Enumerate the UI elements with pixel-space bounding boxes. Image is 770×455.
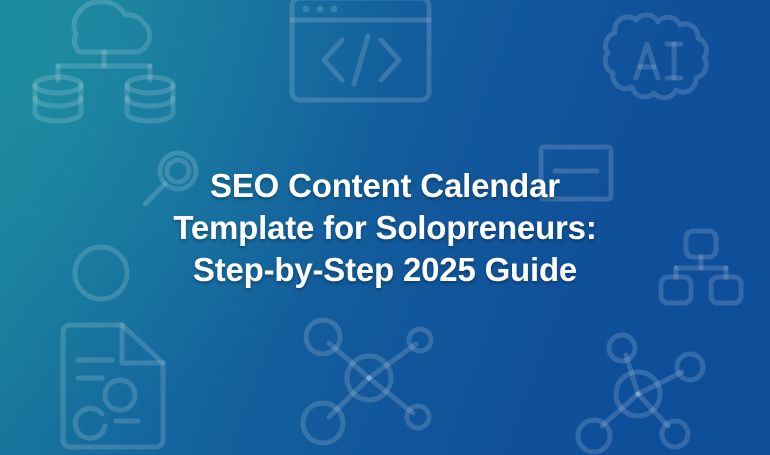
- title-line-2: Template for Solopreneurs:: [173, 207, 596, 249]
- title-container: SEO Content Calendar Template for Solopr…: [0, 0, 770, 455]
- hero-banner: SEO Content Calendar Template for Solopr…: [0, 0, 770, 455]
- title-line-3: Step-by-Step 2025 Guide: [173, 249, 596, 291]
- page-title: SEO Content Calendar Template for Solopr…: [173, 165, 596, 291]
- title-line-1: SEO Content Calendar: [173, 165, 596, 207]
